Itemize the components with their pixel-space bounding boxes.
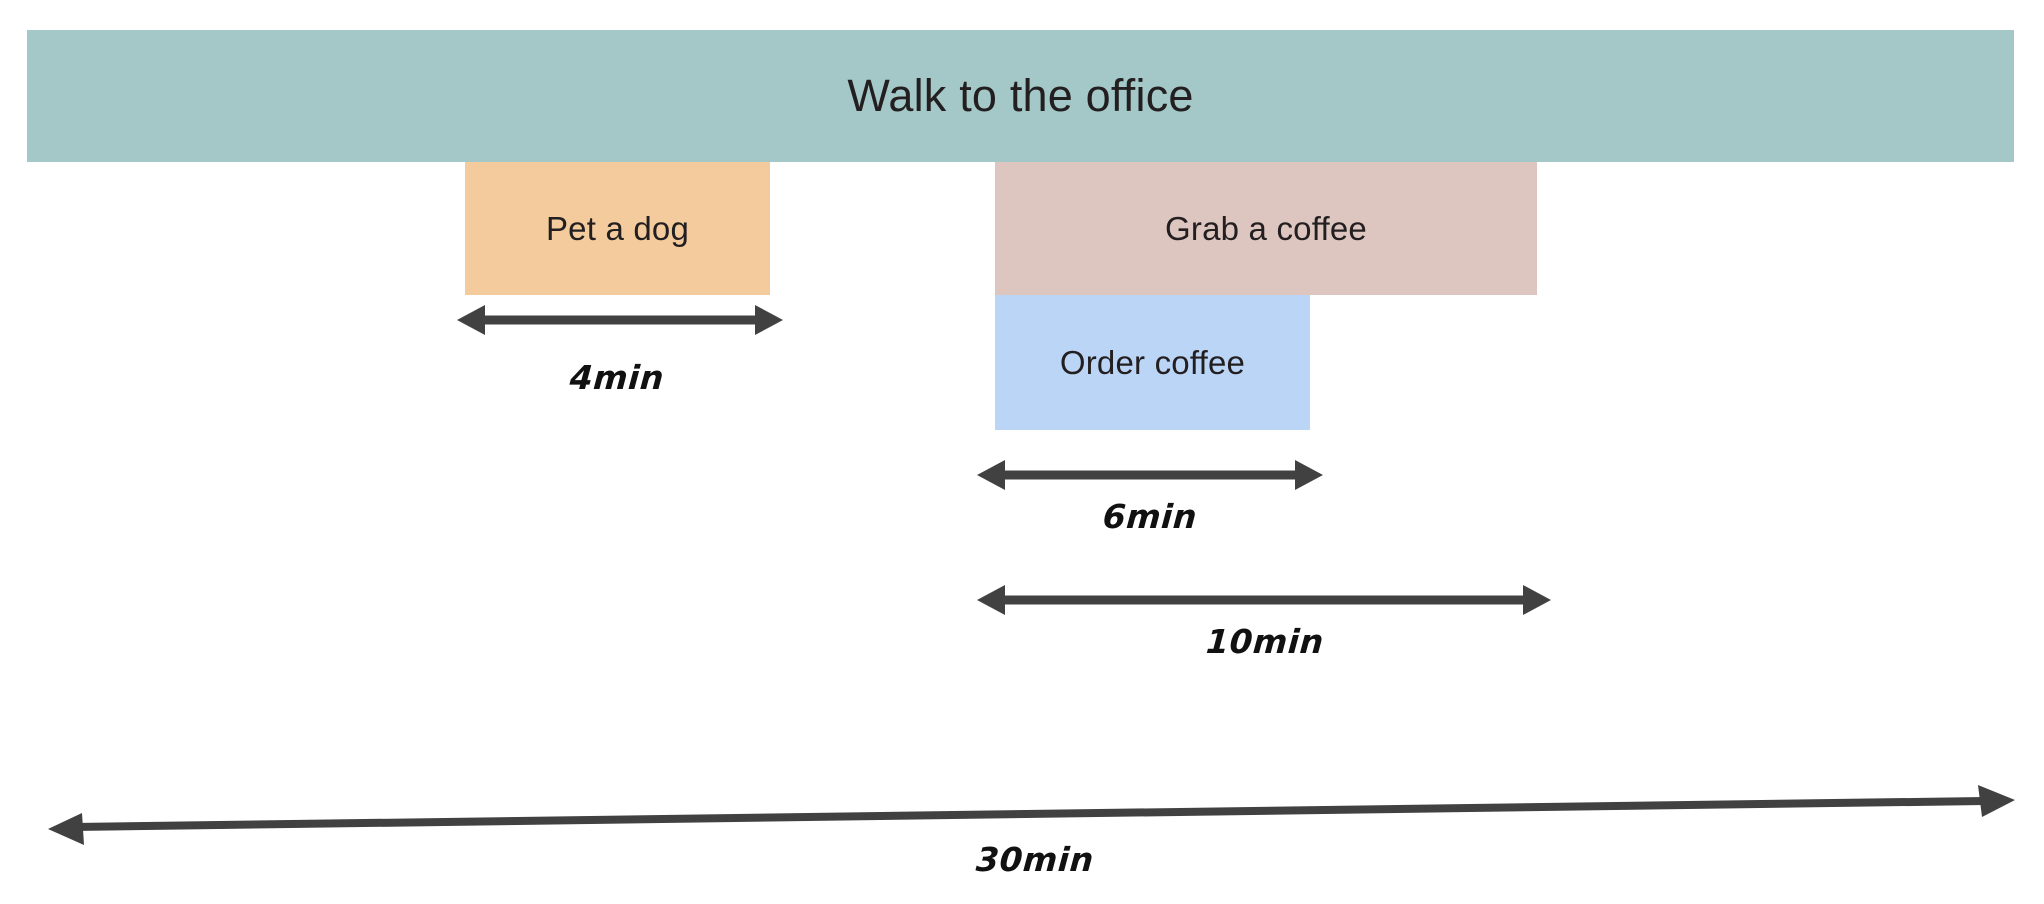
measure-label-6min: 6min	[1029, 497, 1272, 536]
measure-label-10min: 10min	[1144, 622, 1387, 661]
task-bar-label-pet-a-dog: Pet a dog	[546, 210, 689, 248]
task-bar-walk-to-the-office[interactable]: Walk to the office	[27, 30, 2014, 162]
diagram-canvas: Walk to the office Pet a dog Grab a coff…	[0, 0, 2044, 904]
task-bar-label-walk-to-the-office: Walk to the office	[847, 70, 1193, 122]
measure-label-4min: 4min	[496, 358, 739, 397]
task-bar-label-order-coffee: Order coffee	[1060, 344, 1245, 382]
task-bar-pet-a-dog[interactable]: Pet a dog	[465, 162, 770, 295]
measure-arrow-10min	[975, 580, 1553, 620]
task-bar-order-coffee[interactable]: Order coffee	[995, 295, 1310, 430]
measure-label-30min: 30min	[914, 840, 1157, 879]
measure-arrow-4min	[455, 300, 785, 340]
task-bar-label-grab-a-coffee: Grab a coffee	[1165, 210, 1367, 248]
task-bar-grab-a-coffee[interactable]: Grab a coffee	[995, 162, 1537, 295]
measure-arrow-6min	[975, 455, 1325, 495]
